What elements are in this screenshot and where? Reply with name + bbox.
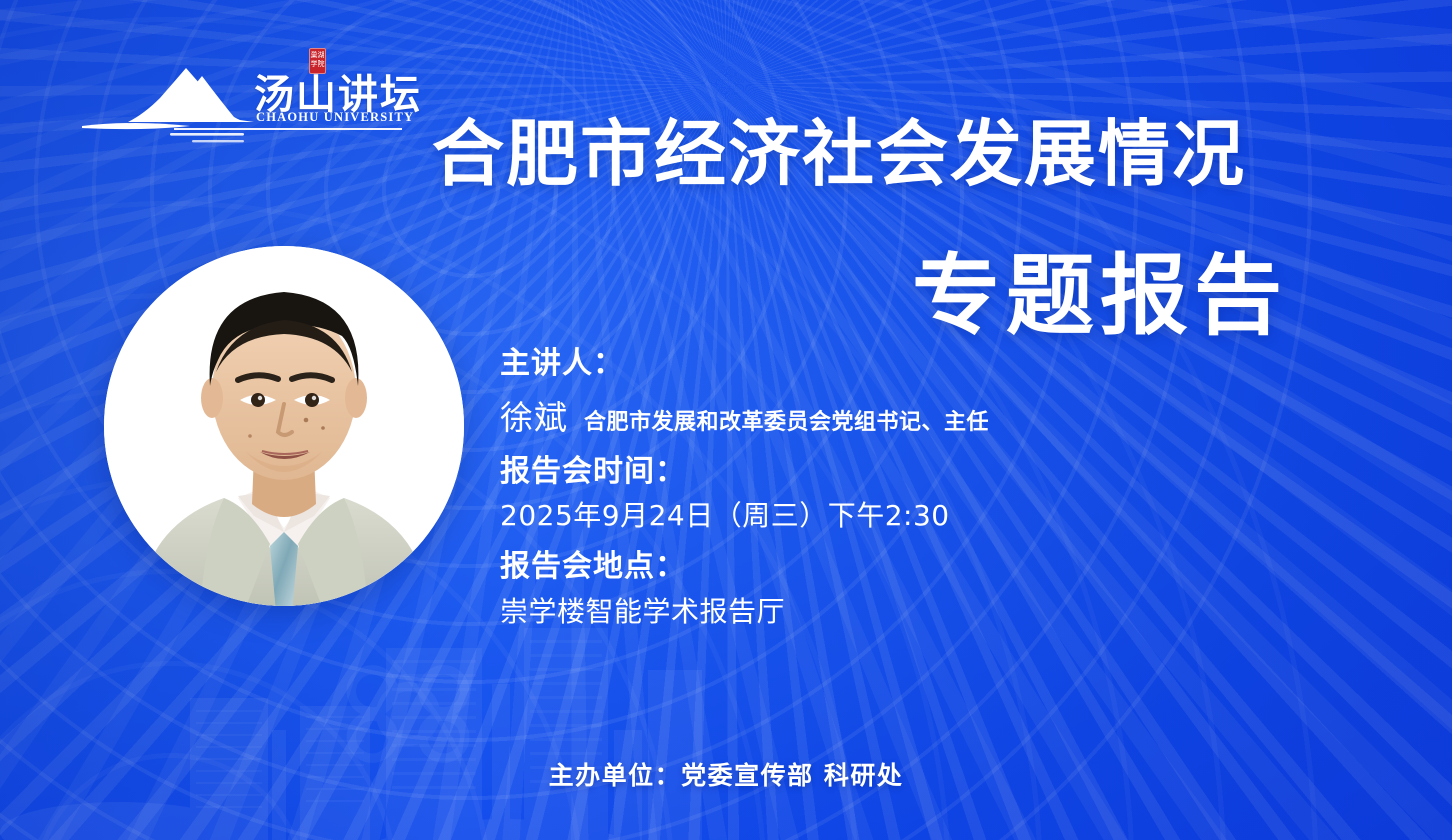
speaker-portrait (104, 246, 464, 606)
logo-divider (174, 128, 402, 130)
headline-line-2: 专题报告 (912, 252, 1288, 340)
organizer-footer: 主办单位：党委宣传部 科研处 (0, 756, 1452, 792)
speaker-row: 徐斌 合肥市发展和改革委员会党组书记、主任 (500, 391, 1260, 439)
place-label: 报告会地点： (500, 548, 1260, 586)
logo-english-name: CHAOHU UNIVERSITY (256, 110, 414, 125)
time-label: 报告会时间： (500, 453, 1260, 491)
chaohu-university-logo: 巢湖学院 汤山讲坛 CHAOHU UNIVERSITY (74, 52, 414, 147)
poster-canvas: 巢湖学院 汤山讲坛 CHAOHU UNIVERSITY 合肥市经济社会发展情况 … (0, 0, 1452, 840)
speaker-title: 合肥市发展和改革委员会党组书记、主任 (584, 404, 989, 436)
place-value: 崇学楼智能学术报告厅 (500, 594, 1260, 630)
speaker-label: 主讲人： (500, 345, 1260, 383)
speaker-name: 徐斌 (500, 391, 568, 439)
event-info-block: 主讲人： 徐斌 合肥市发展和改革委员会党组书记、主任 报告会时间： 2025年9… (500, 345, 1260, 644)
speaker-portrait-image (104, 246, 464, 606)
time-value: 2025年9月24日（周三）下午2:30 (500, 498, 1260, 534)
headline-line-1: 合肥市经济社会发展情况 (432, 118, 1246, 190)
